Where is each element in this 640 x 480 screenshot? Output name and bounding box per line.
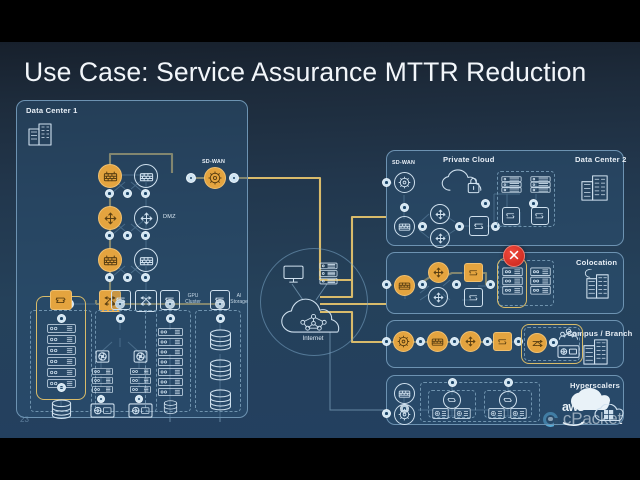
network-tap-dot[interactable] <box>141 231 150 240</box>
switch-icon-colo-white[interactable] <box>464 288 483 307</box>
network-tap-dot[interactable] <box>105 231 114 240</box>
switch-icon-dc2-2[interactable] <box>531 207 549 225</box>
label-private-cloud: Private Cloud <box>443 155 495 164</box>
network-tap-dot[interactable] <box>123 273 132 282</box>
server-icon[interactable] <box>156 387 184 396</box>
label-internet: Internet <box>283 335 343 342</box>
aws-smile-icon <box>562 414 586 419</box>
slide-stage: Use Case: Service Assurance MTTR Reducti… <box>0 42 640 438</box>
label-dmz: DMZ <box>163 214 176 220</box>
network-tap-dot[interactable] <box>105 273 114 282</box>
network-tap-dot[interactable] <box>529 199 538 208</box>
network-tap-dot[interactable] <box>455 222 464 231</box>
switch-icon-white-rack2[interactable] <box>111 290 131 310</box>
server-rack-icon[interactable] <box>500 175 522 193</box>
network-tap-dot[interactable] <box>450 337 459 346</box>
network-tap-dot[interactable] <box>382 337 391 346</box>
label-sdwan-pc: SD-WAN <box>392 160 415 166</box>
network-tap-dot[interactable] <box>481 199 490 208</box>
server-icon[interactable] <box>45 323 77 333</box>
switch-icon-dc2-1[interactable] <box>502 207 520 225</box>
cloud-lock-icon <box>438 168 486 196</box>
switch-icon-pc[interactable] <box>469 216 489 236</box>
workstation-icon[interactable] <box>89 402 115 420</box>
label-gpu-cluster: GPU Cluster <box>178 294 208 306</box>
firewall-icon-campus[interactable] <box>427 331 448 352</box>
server-icon[interactable] <box>128 367 152 375</box>
router-icon-pc-1[interactable] <box>430 204 450 224</box>
vm-instance-icon[interactable] <box>509 407 527 419</box>
building-icon <box>578 170 612 204</box>
network-tap-dot[interactable] <box>123 231 132 240</box>
label-data-center-2: Data Center 2 <box>575 155 627 164</box>
letterbox-top <box>0 0 640 42</box>
label-colocation: Colocation <box>576 258 617 267</box>
firewall-icon-white-2[interactable] <box>134 248 158 272</box>
firewall-icon-colo[interactable] <box>394 275 415 296</box>
server-icon[interactable] <box>45 345 77 355</box>
network-tap-dot[interactable] <box>448 378 457 387</box>
aws-wordmark: aws <box>562 400 584 414</box>
load-balancer-icon-campus[interactable] <box>527 333 547 353</box>
monitor-icon <box>282 264 304 284</box>
router-icon-pc-2[interactable] <box>430 228 450 248</box>
gpu-fan-icon[interactable] <box>94 348 110 364</box>
router-icon-colo-gold[interactable] <box>428 262 449 283</box>
network-tap-dot[interactable] <box>382 178 391 187</box>
switch-icon-campus[interactable] <box>493 332 512 351</box>
vm-instance-icon[interactable] <box>487 407 505 419</box>
server-icon[interactable] <box>45 378 77 388</box>
workstation-icon[interactable] <box>556 344 580 360</box>
vm-instance-icon[interactable] <box>453 407 471 419</box>
gpu-fan-icon[interactable] <box>132 348 148 364</box>
storage-cylinder-icon[interactable] <box>206 328 234 352</box>
network-tap-dot[interactable] <box>105 189 114 198</box>
label-data-center-1: Data Center 1 <box>26 106 78 115</box>
network-tap-dot[interactable] <box>141 273 150 282</box>
storage-cylinder-icon[interactable] <box>48 398 74 420</box>
switch-icon-colo-gold[interactable] <box>464 263 483 282</box>
server-icon[interactable] <box>156 367 184 376</box>
router-icon-gold-1[interactable] <box>98 206 122 230</box>
server-icon[interactable] <box>45 334 77 344</box>
red-x-error-icon[interactable]: ✕ <box>503 245 525 267</box>
sdwan-gear-icon-pc[interactable] <box>394 172 415 193</box>
storage-cylinder-icon[interactable] <box>206 388 234 412</box>
firewall-icon-gold-2[interactable] <box>98 248 122 272</box>
server-icon[interactable] <box>156 377 184 386</box>
switch-icon-gold-rack1[interactable] <box>50 290 72 310</box>
network-tap-dot[interactable] <box>483 337 492 346</box>
network-tap-dot[interactable] <box>416 337 425 346</box>
server-icon[interactable] <box>45 367 77 377</box>
server-icon[interactable] <box>128 385 152 393</box>
network-tap-dot[interactable] <box>418 222 427 231</box>
firewall-icon-gold-1[interactable] <box>98 164 122 188</box>
switch-icon-white-core[interactable] <box>135 290 157 312</box>
network-tap-dot[interactable] <box>123 189 132 198</box>
network-tap-dot[interactable] <box>166 314 175 323</box>
server-icon[interactable] <box>156 347 184 356</box>
server-rack-icon-failed[interactable] <box>501 266 523 296</box>
server-icon[interactable] <box>156 337 184 346</box>
network-tap-dot[interactable] <box>57 314 66 323</box>
network-tap-dot[interactable] <box>452 280 461 289</box>
network-tap-dot[interactable] <box>400 203 409 212</box>
building-icon <box>26 120 54 148</box>
network-tap-dot[interactable] <box>418 280 427 289</box>
firewall-icon-hyper[interactable] <box>394 383 415 404</box>
azure-cloud-icon <box>594 404 624 422</box>
users-group-icon[interactable] <box>558 327 578 343</box>
network-tap-dot[interactable] <box>229 173 239 183</box>
network-tap-dot[interactable] <box>186 173 196 183</box>
server-rack-icon[interactable] <box>529 266 551 296</box>
colocation-building-icon <box>582 268 612 300</box>
server-icon[interactable] <box>90 376 114 384</box>
sdwan-gear-icon-hyper[interactable] <box>394 404 415 425</box>
gpu-line2: Cluster <box>185 299 201 305</box>
server-rack-icon[interactable] <box>529 175 551 193</box>
network-tap-dot[interactable] <box>486 280 495 289</box>
router-icon-campus[interactable] <box>460 331 481 352</box>
storage-cylinder-icon[interactable] <box>161 399 179 415</box>
router-icon-colo-white[interactable] <box>428 287 448 307</box>
cloud-mesh-icon <box>277 294 349 336</box>
router-icon-white-1[interactable] <box>134 206 158 230</box>
network-tap-dot[interactable] <box>504 378 513 387</box>
firewall-icon-pc[interactable] <box>394 216 415 237</box>
server-rack-icon <box>318 261 338 285</box>
network-tap-dot[interactable] <box>382 409 391 418</box>
network-tap-dot[interactable] <box>141 189 150 198</box>
server-icon[interactable] <box>90 367 114 375</box>
network-tap-dot[interactable] <box>216 314 225 323</box>
vm-instance-icon[interactable] <box>431 407 449 419</box>
office-building-icon <box>580 336 610 366</box>
ai-line2: Storage <box>230 299 248 305</box>
label-sdwan-dc1: SD-WAN <box>202 159 225 165</box>
switch-icon-white-gpu[interactable] <box>160 290 180 310</box>
storage-cylinder-icon[interactable] <box>206 358 234 382</box>
sdwan-gear-icon-campus[interactable] <box>393 331 414 352</box>
network-tap-dot[interactable] <box>116 314 125 323</box>
server-icon[interactable] <box>45 356 77 366</box>
letterbox-bottom <box>0 438 640 480</box>
server-icon[interactable] <box>156 357 184 366</box>
server-icon[interactable] <box>90 385 114 393</box>
server-icon[interactable] <box>128 376 152 384</box>
firewall-icon-white-1[interactable] <box>134 164 158 188</box>
workstation-icon[interactable] <box>127 402 153 420</box>
network-tap-dot[interactable] <box>382 280 391 289</box>
server-icon[interactable] <box>156 327 184 336</box>
x-glyph: ✕ <box>508 248 521 263</box>
sdwan-gear-icon-dc1[interactable] <box>204 167 226 189</box>
label-ai-storage: AI Storage <box>226 294 252 306</box>
slide-root: Use Case: Service Assurance MTTR Reducti… <box>0 0 640 480</box>
